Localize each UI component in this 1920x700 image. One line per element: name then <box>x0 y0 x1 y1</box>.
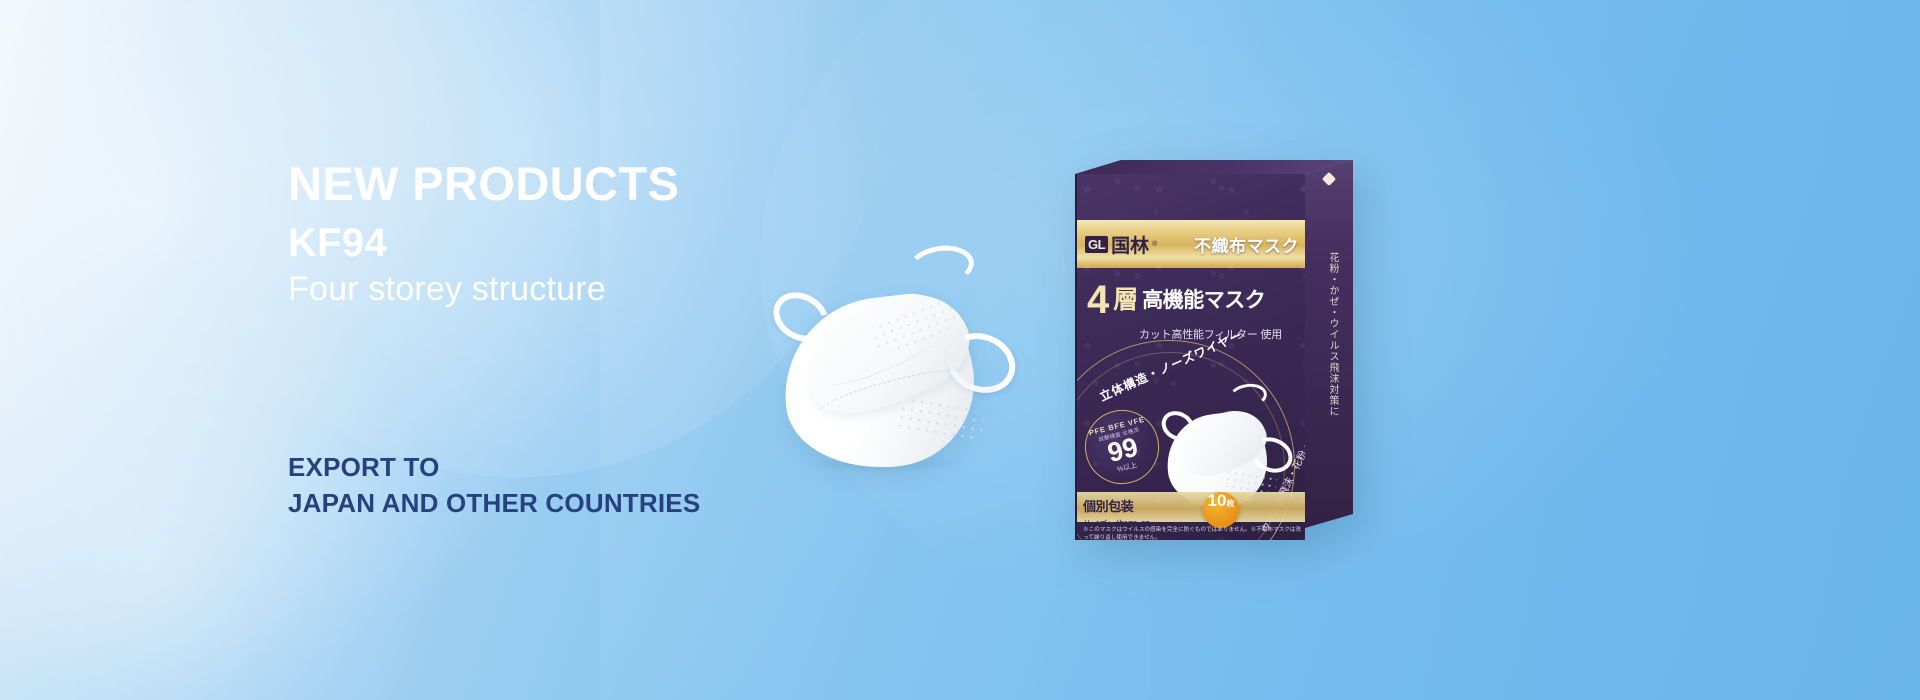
export-line-1: EXPORT TO <box>288 452 440 483</box>
package-fineprint: ※このマスクはウイルスの感染を完全に防ぐものではありません。※不織布マスクは洗っ… <box>1083 526 1301 540</box>
package-side-panel: 花粉・かぜ・ウイルス飛沫対策に <box>1305 160 1353 528</box>
layers-number: 4 <box>1087 282 1109 320</box>
promo-banner: NEW PRODUCTS KF94 Four storey structure … <box>0 0 1920 700</box>
package-side-text: 花粉・かぜ・ウイルス飛沫対策に <box>1318 204 1340 464</box>
package-mask-ear-top <box>1228 381 1269 410</box>
product-name: KF94 <box>288 223 387 263</box>
product-subtitle: Four storey structure <box>288 272 606 306</box>
mask-perforation-lower <box>894 394 985 447</box>
mask-title-cjk: 高機能マスク <box>1142 282 1265 320</box>
package-front-panel: GL 国林 ® 不織布マスク 4 層 高機能マスク カット高性能フィルター 使用… <box>1075 174 1305 540</box>
package-pack-info: 個別包装 サイズ：約170x95mm <box>1083 496 1163 530</box>
export-line-2: JAPAN AND OTHER COUNTRIES <box>288 488 700 519</box>
package-brand-band: GL 国林 ® 不織布マスク <box>1077 220 1305 268</box>
kf94-mask-illustration <box>770 240 1030 490</box>
package-side-diamond-icon <box>1322 172 1336 186</box>
package-band-text: 不織布マスク <box>1194 232 1299 257</box>
layers-unit: 層 <box>1113 282 1138 320</box>
trademark-icon: ® <box>1152 241 1157 248</box>
brand-name-cjk: 国林 <box>1111 231 1149 258</box>
page-title: NEW PRODUCTS <box>288 160 679 207</box>
package-headline: 4 層 高機能マスク <box>1087 282 1265 320</box>
mask-ear-loop-top <box>906 242 977 291</box>
brand-mark-gl: GL <box>1085 236 1108 253</box>
count-value: 10 <box>1208 492 1227 509</box>
pack-label: 個別包装 <box>1083 499 1133 514</box>
count-unit: 枚 <box>1226 498 1234 509</box>
brand-logo: GL 国林 ® <box>1085 231 1157 258</box>
product-package: 花粉・かぜ・ウイルス飛沫対策に GL 国林 ® 不織布マスク 4 層 高機能マス… <box>1075 160 1365 550</box>
count-badge: 10枚 <box>1203 492 1239 528</box>
